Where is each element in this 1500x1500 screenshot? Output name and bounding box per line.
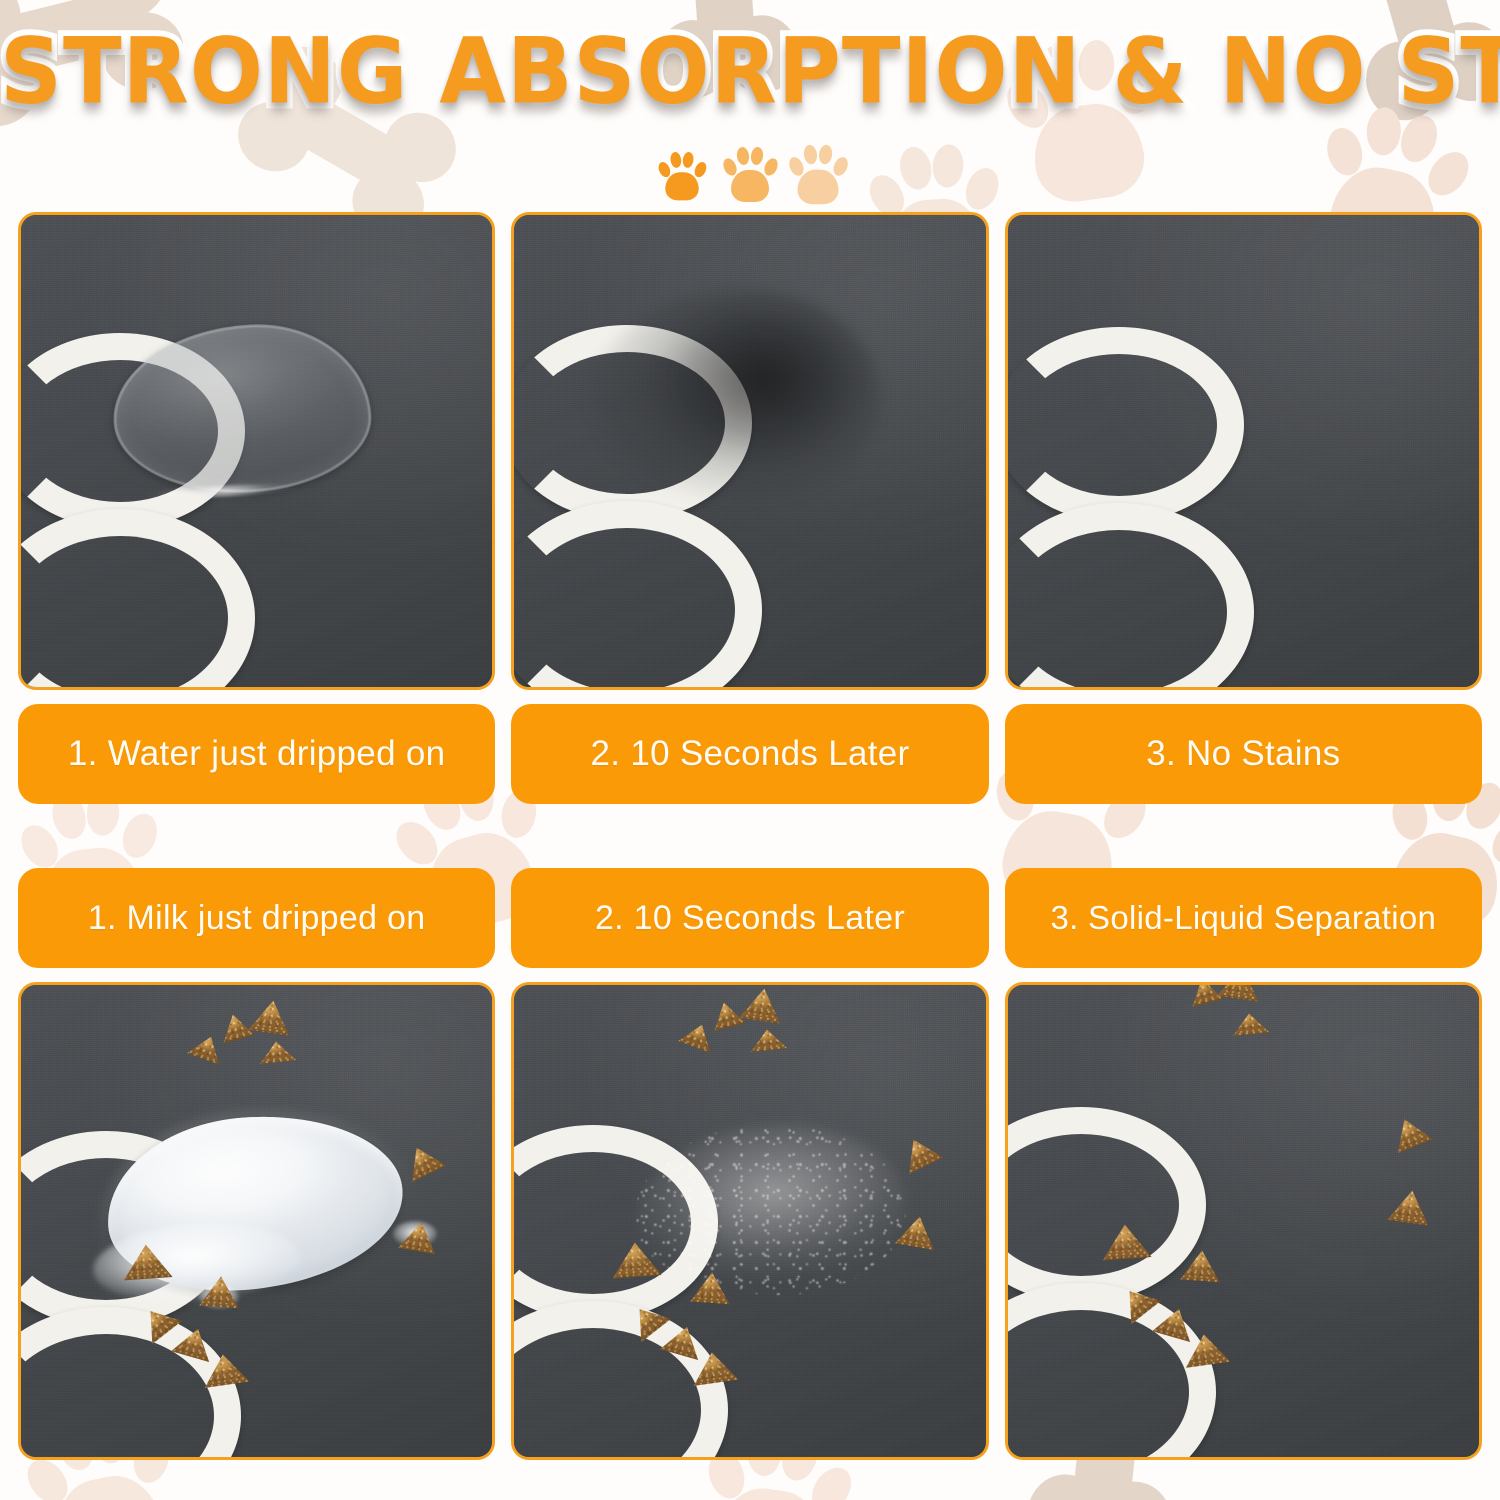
caption-label: 1. Milk just dripped on (88, 899, 426, 938)
milk-test-step-2: 2. 10 Seconds Later (511, 868, 988, 1460)
milk-step-2-caption: 2. 10 Seconds Later (511, 868, 988, 968)
milk-step-1-photo-frame (18, 982, 495, 1460)
caption-label: 2. 10 Seconds Later (595, 899, 905, 938)
water-step-1-caption: 1. Water just dripped on (18, 704, 495, 804)
milk-step-3-photo-frame (1005, 982, 1482, 1460)
photo-water-absorbed (514, 215, 985, 687)
photo-milk-puddle (21, 985, 492, 1457)
water-step-2-caption: 2. 10 Seconds Later (511, 704, 988, 804)
paw-print-icon (789, 144, 847, 204)
milk-step-3-caption: 3. Solid-Liquid Separation (1005, 868, 1482, 968)
water-step-1-photo-frame (18, 212, 495, 690)
milk-test-row: 1. Milk just dripped on (18, 868, 1482, 1460)
milk-test-step-3: 3. Solid-Liquid Separation (1005, 868, 1482, 1460)
infographic-page: STRONG ABSORPTION & NO STAINS (0, 0, 1500, 1500)
paw-print-icon (658, 151, 706, 200)
photo-water-puddle (21, 215, 492, 687)
mat-surface (1008, 215, 1479, 687)
water-test-step-1: 1. Water just dripped on (18, 212, 495, 804)
mat-surface (514, 985, 985, 1457)
water-test-row: 1. Water just dripped on 2. 10 Seconds L… (18, 212, 1482, 804)
milk-step-2-photo-frame (511, 982, 988, 1460)
page-title-text: STRONG ABSORPTION & NO STAINS (0, 19, 1500, 125)
page-title: STRONG ABSORPTION & NO STAINS (0, 22, 1500, 122)
mat-surface (21, 215, 492, 687)
water-step-3-caption: 3. No Stains (1005, 704, 1482, 804)
caption-label: 2. 10 Seconds Later (591, 734, 910, 774)
mat-surface (514, 215, 985, 687)
water-step-2-photo-frame (511, 212, 988, 690)
mat-surface (21, 985, 492, 1457)
milk-step-1-caption: 1. Milk just dripped on (18, 868, 495, 968)
water-test-step-3: 3. No Stains (1005, 212, 1482, 804)
caption-label: 3. No Stains (1146, 734, 1340, 774)
caption-label: 3. Solid-Liquid Separation (1050, 899, 1436, 937)
paw-divider (0, 140, 1500, 202)
water-test-step-2: 2. 10 Seconds Later (511, 212, 988, 804)
milk-test-step-1: 1. Milk just dripped on (18, 868, 495, 1460)
photo-mat-clean (1008, 215, 1479, 687)
paw-print-icon (723, 146, 777, 202)
photo-dry-kibble (1008, 985, 1479, 1457)
water-step-3-photo-frame (1005, 212, 1482, 690)
caption-label: 1. Water just dripped on (68, 734, 446, 774)
photo-milk-absorbing (514, 985, 985, 1457)
